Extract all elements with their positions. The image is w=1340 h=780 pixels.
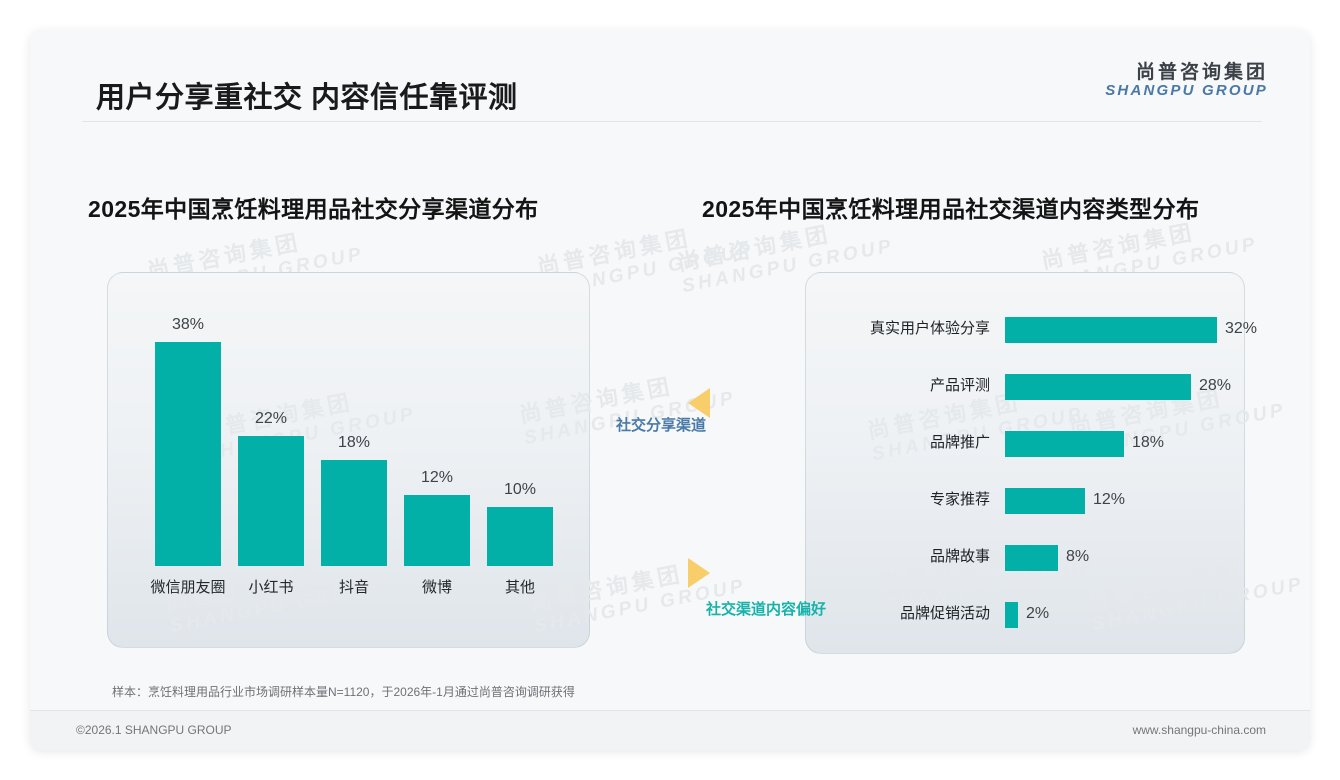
bar-value-label: 2% — [1026, 599, 1049, 629]
bar-value-label: 18% — [1132, 428, 1164, 458]
bar-category-label: 品牌推广 — [805, 428, 990, 458]
bar[interactable] — [1005, 602, 1018, 628]
bar-value-label: 10% — [487, 481, 553, 499]
right-chart-title: 2025年中国烹饪料理用品社交渠道内容类型分布 — [702, 190, 1199, 224]
bar-category-label: 产品评测 — [805, 371, 990, 401]
bar[interactable] — [1005, 545, 1058, 571]
bar-group: 38%微信朋友圈 — [155, 342, 221, 566]
bar-value-label: 8% — [1066, 542, 1089, 572]
social-share-channel-bar-chart: 38%微信朋友圈22%小红书18%抖音12%微博10%其他 — [107, 272, 588, 646]
table-row: 品牌推广18% — [805, 428, 1243, 458]
website-link[interactable]: www.shangpu-china.com — [1133, 723, 1266, 737]
left-chart-title: 2025年中国烹饪料理用品社交分享渠道分布 — [88, 190, 539, 224]
bar-value-label: 38% — [155, 316, 221, 334]
bar-group: 10%其他 — [487, 507, 553, 566]
bar-value-label: 18% — [321, 434, 387, 452]
connector-label-2: 社交渠道内容偏好 — [706, 598, 826, 619]
bar[interactable] — [1005, 488, 1085, 514]
bar[interactable] — [487, 507, 553, 566]
table-row: 品牌故事8% — [805, 542, 1243, 572]
bar[interactable] — [321, 460, 387, 566]
table-row: 真实用户体验分享32% — [805, 314, 1243, 344]
slide-card: 用户分享重社交 内容信任靠评测 尚普咨询集团 SHANGPU GROUP 202… — [30, 30, 1310, 750]
connector-label-1: 社交分享渠道 — [616, 414, 706, 435]
bar[interactable] — [1005, 317, 1217, 343]
arrow-right-icon — [688, 558, 710, 588]
bar-category-label: 真实用户体验分享 — [805, 314, 990, 344]
bar-group: 12%微博 — [404, 495, 470, 566]
bar-category-label: 品牌故事 — [805, 542, 990, 572]
bar-value-label: 12% — [1093, 485, 1125, 515]
bar-category-label: 专家推荐 — [805, 485, 990, 515]
page-root: 用户分享重社交 内容信任靠评测 尚普咨询集团 SHANGPU GROUP 202… — [0, 0, 1340, 780]
header-divider — [82, 121, 1262, 122]
table-row: 品牌促销活动2% — [805, 599, 1243, 629]
logo-chinese-text: 尚普咨询集团 — [1105, 62, 1268, 83]
sample-footnote: 样本：烹饪料理用品行业市场调研样本量N=1120，于2026年-1月通过尚普咨询… — [112, 683, 575, 700]
slide-header: 用户分享重社交 内容信任靠评测 尚普咨询集团 SHANGPU GROUP — [30, 30, 1310, 120]
table-row: 专家推荐12% — [805, 485, 1243, 515]
bar[interactable] — [238, 436, 304, 566]
bar-group: 22%小红书 — [238, 436, 304, 566]
bar-category-label: 其他 — [465, 576, 575, 597]
copyright-text: ©2026.1 SHANGPU GROUP — [76, 723, 232, 737]
table-row: 产品评测28% — [805, 371, 1243, 401]
bar-value-label: 22% — [238, 410, 304, 428]
slide-footer: ©2026.1 SHANGPU GROUP www.shangpu-china.… — [30, 711, 1310, 750]
bar[interactable] — [1005, 374, 1191, 400]
bar-group: 18%抖音 — [321, 460, 387, 566]
bar-value-label: 32% — [1225, 314, 1257, 344]
bar-value-label: 12% — [404, 469, 470, 487]
bar-category-label: 品牌促销活动 — [805, 599, 990, 629]
bar[interactable] — [1005, 431, 1124, 457]
bar[interactable] — [404, 495, 470, 566]
bar[interactable] — [155, 342, 221, 566]
content-type-bar-chart: 真实用户体验分享32%产品评测28%品牌推广18%专家推荐12%品牌故事8%品牌… — [805, 272, 1243, 652]
bar-value-label: 28% — [1199, 371, 1231, 401]
brand-logo: 尚普咨询集团 SHANGPU GROUP — [1105, 62, 1268, 100]
page-title: 用户分享重社交 内容信任靠评测 — [96, 74, 518, 116]
logo-english-text: SHANGPU GROUP — [1105, 83, 1268, 100]
